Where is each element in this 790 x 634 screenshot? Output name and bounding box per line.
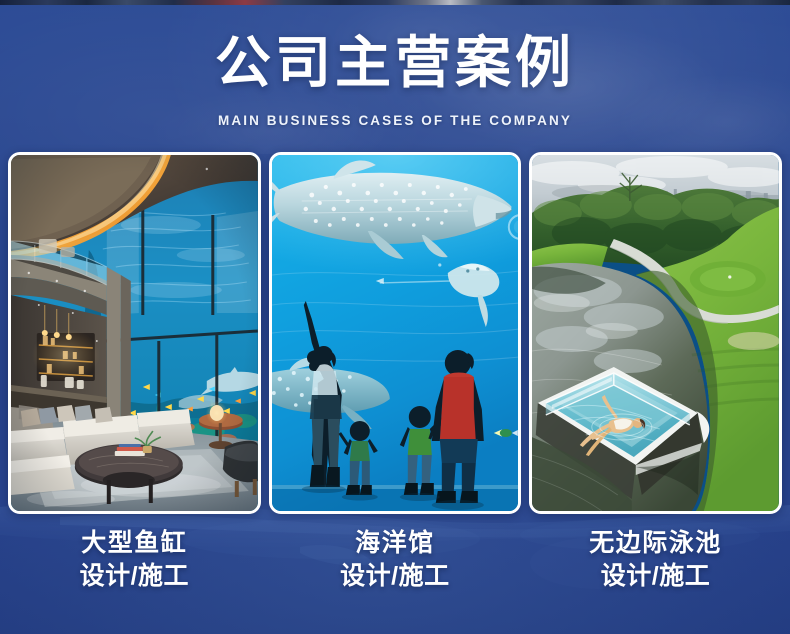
large-aquarium-living-room-photo [11,155,258,511]
caption-title: 海洋馆 [269,527,522,560]
caption-infinity-pool: 无边际泳池 设计/施工 [529,527,782,615]
caption-subtitle: 设计/施工 [8,560,261,593]
caption-oceanarium: 海洋馆 设计/施工 [269,527,522,615]
page-subtitle: MAIN BUSINESS CASES OF THE COMPANY [0,112,790,130]
previous-section-strip [0,0,790,5]
promo-banner-page: 公司主营案例 MAIN BUSINESS CASES OF THE COMPAN… [0,0,790,634]
case-card-list [8,152,782,514]
case-card-oceanarium[interactable] [269,152,522,514]
caption-subtitle: 设计/施工 [269,560,522,593]
page-title: 公司主营案例 [0,32,790,94]
caption-large-aquarium: 大型鱼缸 设计/施工 [8,527,261,615]
infinity-pool-golf-course-photo [532,155,779,511]
oceanarium-whale-shark-photo [272,155,519,511]
header: 公司主营案例 MAIN BUSINESS CASES OF THE COMPAN… [0,5,790,145]
case-caption-list: 大型鱼缸 设计/施工 海洋馆 设计/施工 无边际泳池 设计/施工 [8,527,782,615]
case-card-infinity-pool[interactable] [529,152,782,514]
caption-subtitle: 设计/施工 [529,560,782,593]
case-card-large-aquarium[interactable] [8,152,261,514]
caption-title: 无边际泳池 [529,527,782,560]
caption-title: 大型鱼缸 [8,527,261,560]
